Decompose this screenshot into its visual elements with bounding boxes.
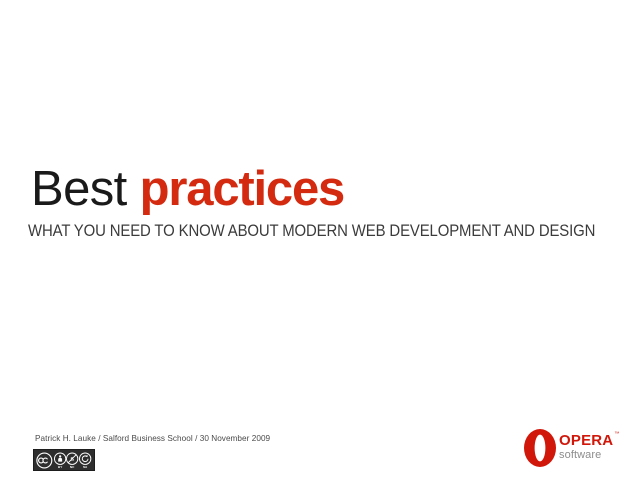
cc-sharealike-icon: SA	[79, 451, 91, 470]
cc-noncommercial-icon: S NC	[66, 451, 78, 470]
opera-brand-text: OPERA	[559, 432, 613, 449]
trademark-symbol: ™	[614, 432, 619, 437]
cc-noncommercial-label: NC	[70, 465, 75, 469]
opera-brand-name: OPERA™	[559, 433, 619, 449]
opera-tagline: software	[559, 449, 619, 462]
opera-o-icon	[523, 428, 557, 468]
slide-footer: Patrick H. Lauke / Salford Business Scho…	[0, 425, 640, 480]
title-emphasis-text: practices	[140, 162, 344, 216]
cc-attribution-label: BY	[58, 465, 62, 469]
presentation-slide: Best practices WHAT YOU NEED TO KNOW ABO…	[0, 0, 640, 480]
opera-software-logo: OPERA™ software	[523, 428, 615, 468]
cc-sharealike-label: SA	[83, 465, 88, 469]
page-subtitle: WHAT YOU NEED TO KNOW ABOUT MODERN WEB D…	[28, 215, 556, 241]
creative-commons-icon	[36, 451, 53, 470]
page-title: Best practices	[31, 163, 611, 215]
cc-attribution-icon: BY	[54, 451, 66, 470]
title-plain-text: Best	[31, 162, 140, 216]
title-block: Best practices WHAT YOU NEED TO KNOW ABO…	[31, 163, 611, 241]
creative-commons-license-badge[interactable]: BY S NC SA	[33, 449, 95, 471]
byline: Patrick H. Lauke / Salford Business Scho…	[35, 433, 270, 444]
opera-wordmark: OPERA™ software	[559, 433, 619, 462]
